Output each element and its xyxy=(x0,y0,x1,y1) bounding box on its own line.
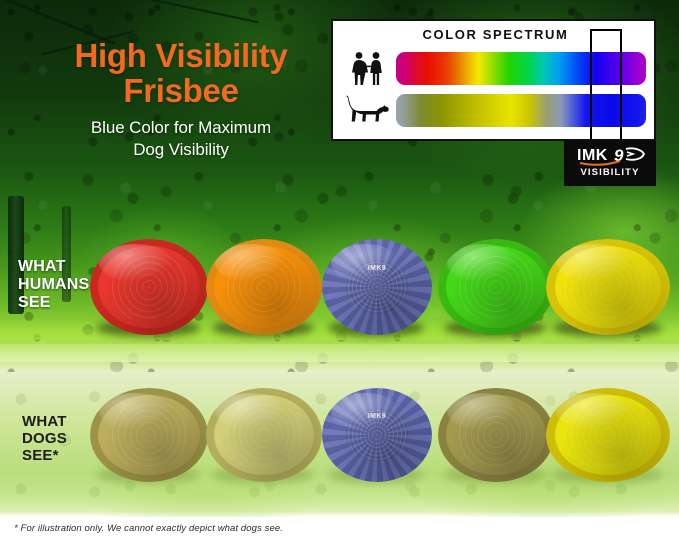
disc-green[interactable] xyxy=(438,239,554,335)
imk9-logo-icon: IMK 9 xyxy=(564,143,656,167)
dogs-label-line-3: SEE* xyxy=(22,447,67,464)
svg-text:IMK: IMK xyxy=(577,147,608,164)
disc-shading xyxy=(90,239,208,335)
disc-shading xyxy=(206,239,322,335)
disc-shading xyxy=(322,388,432,482)
disc-yellow-dogvision[interactable] xyxy=(546,388,670,482)
disc-brand-logo: IMK9 xyxy=(368,413,386,420)
subtitle-line-2: Dog Visibility xyxy=(48,139,314,161)
color-spectrum-panel: COLOR SPECTRUM xyxy=(331,19,656,141)
disc-shading xyxy=(438,388,554,482)
disc-blue[interactable]: IMK9 xyxy=(322,239,432,335)
disc-shading xyxy=(322,239,432,335)
humans-label-line-1: WHAT xyxy=(18,258,89,276)
product-infographic: High Visibility Frisbee Blue Color for M… xyxy=(0,0,679,543)
dogs-label-line-2: DOGS xyxy=(22,430,67,447)
headline-block: High Visibility Frisbee Blue Color for M… xyxy=(48,38,314,161)
humans-icon xyxy=(341,47,394,89)
disc-shading xyxy=(206,388,322,482)
disc-orange-dogvision[interactable] xyxy=(206,388,322,482)
headline-line-1: High Visibility xyxy=(48,38,314,73)
subtitle-line-1: Blue Color for Maximum xyxy=(48,117,314,139)
disc-shading xyxy=(546,239,670,335)
blue-visibility-bracket xyxy=(590,29,622,157)
logo-subtitle: VISIBILITY xyxy=(564,167,656,178)
disc-yellow[interactable] xyxy=(546,239,670,335)
dog-icon xyxy=(341,89,394,131)
grass-highlight xyxy=(0,344,679,362)
humans-label-line-3: SEE xyxy=(18,294,89,312)
disc-shading xyxy=(90,388,208,482)
dogs-row-label: WHAT DOGS SEE* xyxy=(22,413,67,464)
disc-shading xyxy=(438,239,554,335)
footnote-text: * For illustration only. We cannot exact… xyxy=(14,523,283,534)
disc-red[interactable] xyxy=(90,239,208,335)
disc-blue-dogvision[interactable]: IMK9 xyxy=(322,388,432,482)
disc-shading xyxy=(546,388,670,482)
disc-brand-logo: IMK9 xyxy=(368,265,386,272)
dogs-label-line-1: WHAT xyxy=(22,413,67,430)
disc-orange[interactable] xyxy=(206,239,322,335)
disc-green-dogvision[interactable] xyxy=(438,388,554,482)
headline-line-2: Frisbee xyxy=(48,73,314,108)
humans-label-line-2: HUMANS xyxy=(18,276,89,294)
humans-row-label: WHAT HUMANS SEE xyxy=(18,258,89,312)
brand-logo: IMK 9 VISIBILITY xyxy=(564,141,656,186)
disc-red-dogvision[interactable] xyxy=(90,388,208,482)
